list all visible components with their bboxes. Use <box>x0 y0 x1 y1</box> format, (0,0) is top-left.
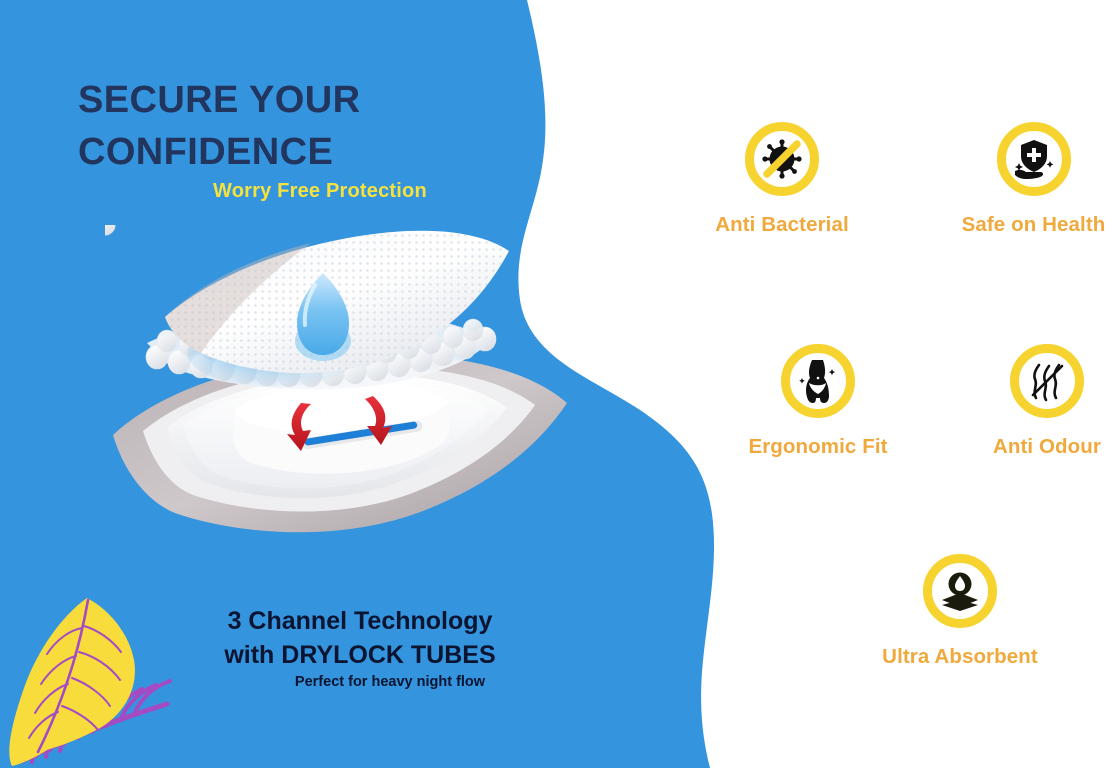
promo-banner: SECURE YOUR CONFIDENCE Worry Free Protec… <box>0 0 1114 768</box>
feature-ultra-absorbent: Ultra Absorbent <box>872 554 1048 669</box>
caption-line-1: 3 Channel Technology <box>60 604 660 638</box>
product-illustration <box>105 225 575 535</box>
page-title: SECURE YOUR CONFIDENCE <box>78 74 508 179</box>
feature-ergonomic-fit: Ergonomic Fit <box>744 344 892 459</box>
feature-label: Safe on Health <box>953 213 1114 237</box>
odour-waves-blocked-icon <box>1010 344 1084 418</box>
caption-line-2: with DRYLOCK TUBES <box>60 638 660 672</box>
feature-anti-bacterial: Anti Bacterial <box>708 122 856 237</box>
feature-label: Anti Bacterial <box>708 213 856 237</box>
headline-line-2: CONFIDENCE <box>78 126 508 178</box>
feature-label: Ergonomic Fit <box>744 435 892 459</box>
product-caption: 3 Channel Technology with DRYLOCK TUBES <box>60 604 660 672</box>
headline-subtitle: Worry Free Protection <box>213 180 427 203</box>
feature-label: Ultra Absorbent <box>872 645 1048 669</box>
feature-anti-odour: Anti Odour <box>980 344 1114 459</box>
female-torso-icon <box>781 344 855 418</box>
product-caption-sub: Perfect for heavy night flow <box>60 674 720 690</box>
hand-shield-cross-icon <box>997 122 1071 196</box>
headline-line-1: SECURE YOUR <box>78 74 508 126</box>
droplet-layers-icon <box>923 554 997 628</box>
feature-label: Anti Odour <box>980 435 1114 459</box>
feature-safe-on-health: Safe on Health <box>953 122 1114 237</box>
virus-blocked-icon <box>745 122 819 196</box>
